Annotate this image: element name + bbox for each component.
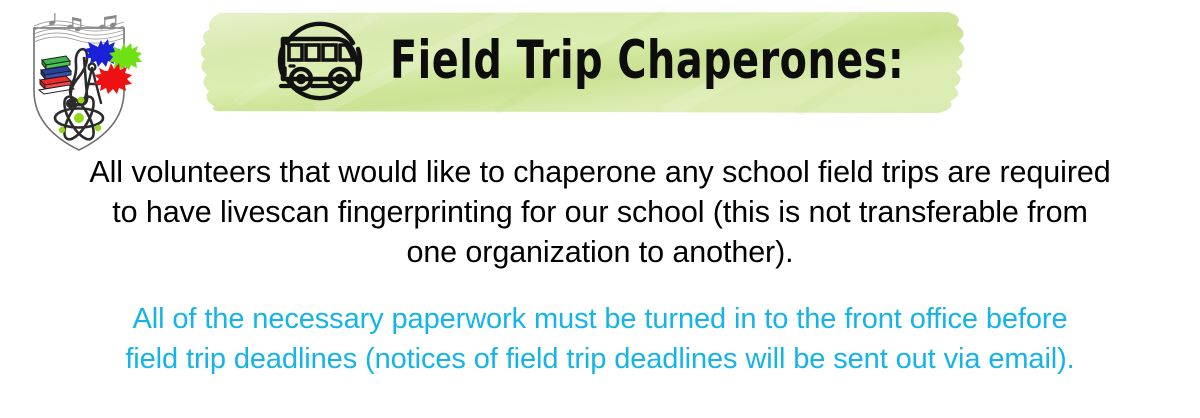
atom-electron-icon xyxy=(59,127,65,133)
bus-window xyxy=(289,45,302,60)
flyer-page: Field Trip Chaperones: All volunteers th… xyxy=(0,0,1200,418)
atom-electron-icon xyxy=(78,97,85,104)
paragraph-line: to have livescan fingerprinting for our … xyxy=(20,192,1180,232)
paragraph-line: All volunteers that would like to chaper… xyxy=(20,152,1180,192)
paragraph-line: field trip deadlines (notices of field t… xyxy=(20,339,1180,379)
school-crest-logo xyxy=(14,6,144,156)
atom-nucleus-icon xyxy=(74,113,84,123)
chaperone-requirements-paragraph: All volunteers that would like to chaper… xyxy=(20,152,1180,272)
school-bus-circle-icon xyxy=(268,9,372,113)
bus-window xyxy=(323,45,336,60)
bus-window xyxy=(306,45,319,60)
paragraph-line: one organization to another). xyxy=(20,232,1180,272)
banner-title: Field Trip Chaperones: xyxy=(390,34,904,86)
field-trip-banner: Field Trip Chaperones: xyxy=(196,7,982,115)
paperwork-deadline-paragraph: All of the necessary paperwork must be t… xyxy=(20,299,1180,379)
book-stack-icon xyxy=(39,56,74,94)
atom-electron-icon xyxy=(95,125,101,131)
paragraph-line: All of the necessary paperwork must be t… xyxy=(20,299,1180,339)
